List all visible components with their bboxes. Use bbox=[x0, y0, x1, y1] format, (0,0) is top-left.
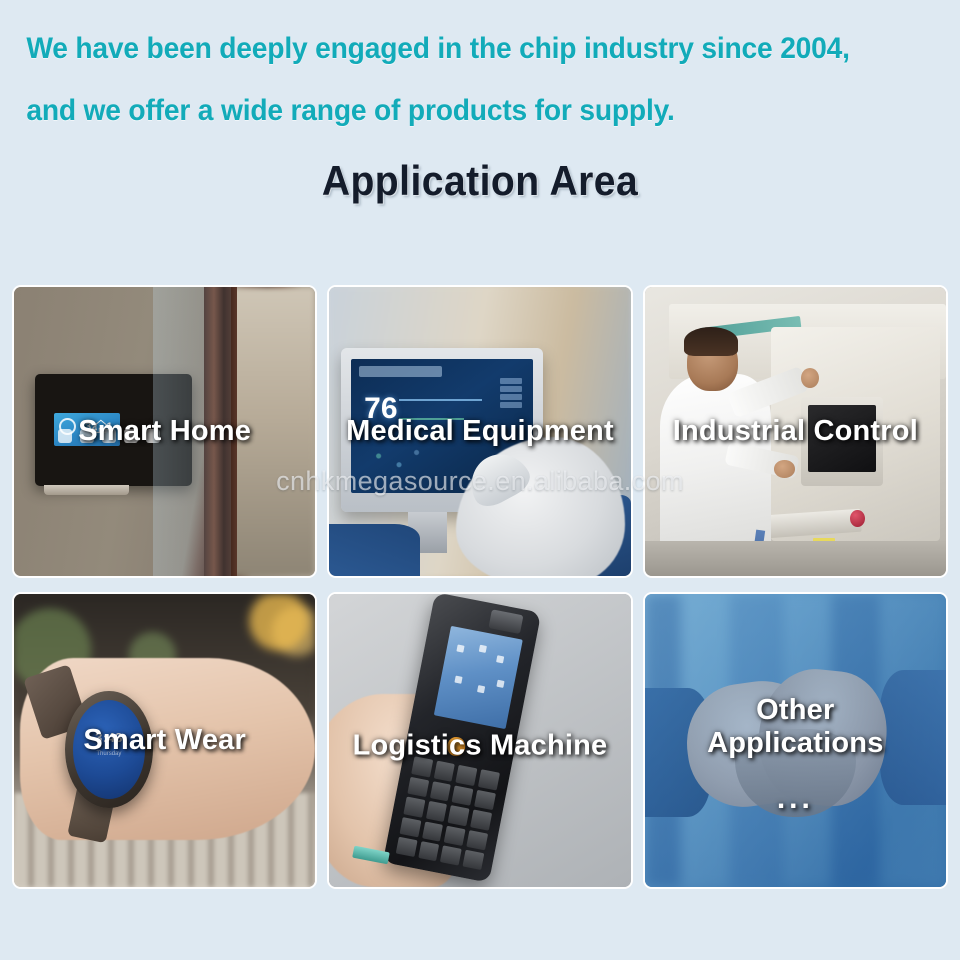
technician-hair bbox=[684, 327, 738, 356]
control-monitor-screen bbox=[808, 405, 876, 472]
ecg-waveform bbox=[399, 399, 483, 401]
application-card-logistics-machine[interactable]: Logistics Machine bbox=[327, 592, 632, 889]
application-card-other-applications[interactable]: Other Applications ... bbox=[643, 592, 948, 889]
medical-equipment-image: 76 bbox=[329, 287, 630, 576]
emergency-stop-button bbox=[850, 510, 865, 527]
application-card-smart-wear[interactable]: 3:43 Thursday Smart Wear bbox=[12, 592, 317, 889]
spo2-waveform bbox=[399, 418, 464, 420]
headline-block: We have been deeply engaged in the chip … bbox=[0, 18, 960, 142]
application-area-page: We have been deeply engaged in the chip … bbox=[0, 0, 960, 960]
background-wall bbox=[225, 287, 315, 576]
smart-watch: 3:43 Thursday bbox=[65, 691, 152, 808]
vital-sign-value: 76 bbox=[364, 394, 397, 424]
application-card-smart-home[interactable]: 32 1 bbox=[12, 285, 317, 578]
smart-wear-image: 3:43 Thursday bbox=[14, 594, 315, 887]
scan-trigger-button bbox=[445, 735, 466, 757]
terminal-screen bbox=[433, 626, 523, 729]
panel-screen: 32 1 bbox=[54, 413, 120, 446]
smart-home-image: 32 1 bbox=[14, 287, 315, 576]
industrial-control-image bbox=[645, 287, 946, 576]
fan-icon bbox=[80, 429, 94, 443]
logistics-machine-image bbox=[329, 594, 630, 887]
headline-line-2: and we offer a wide range of products fo… bbox=[0, 80, 902, 142]
monitor-top-bar bbox=[359, 366, 443, 377]
scrub-left bbox=[329, 524, 419, 576]
control-monitor bbox=[801, 397, 882, 487]
watch-time: 3:43 bbox=[73, 730, 145, 745]
blue-color-tint bbox=[645, 594, 946, 887]
panel-shortcut-icons bbox=[58, 429, 160, 443]
headline-line-1: We have been deeply engaged in the chip … bbox=[0, 18, 902, 80]
terminal-keypad bbox=[395, 756, 499, 870]
application-card-industrial-control[interactable]: Industrial Control bbox=[643, 285, 948, 578]
monitor-data-points bbox=[364, 442, 437, 477]
handheld-terminal bbox=[382, 594, 541, 883]
barcode-scanner-head bbox=[488, 609, 524, 634]
watch-face: 3:43 Thursday bbox=[73, 700, 145, 798]
camera-icon bbox=[124, 429, 138, 443]
panel-base bbox=[44, 485, 129, 495]
watch-date: Thursday bbox=[73, 751, 145, 757]
factory-floor bbox=[645, 541, 946, 576]
technician-hand-lower bbox=[774, 460, 795, 477]
light-icon bbox=[58, 429, 72, 443]
page-title: Application Area bbox=[34, 156, 927, 206]
lock-icon bbox=[102, 429, 116, 443]
application-area-grid: 32 1 bbox=[12, 285, 948, 889]
other-applications-image bbox=[645, 594, 946, 887]
glass-reflection bbox=[153, 287, 231, 576]
application-card-medical-equipment[interactable]: 76 Medical Equipment bbox=[327, 285, 632, 578]
